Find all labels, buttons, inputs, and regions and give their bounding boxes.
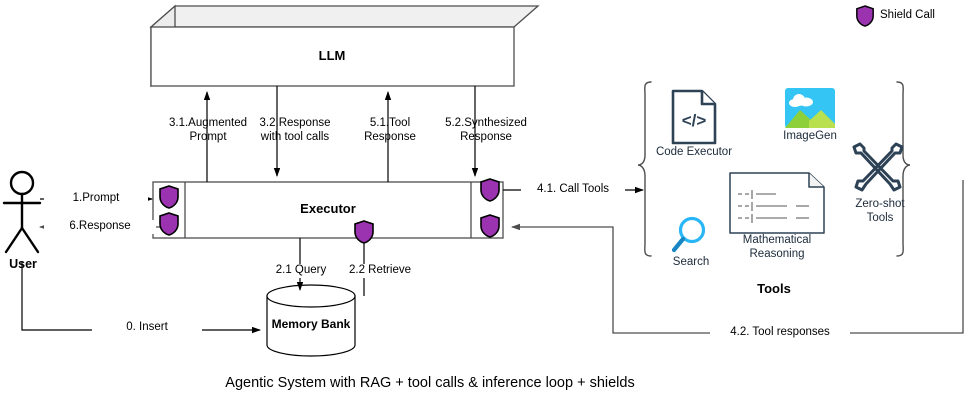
formula-document-icon (729, 172, 825, 234)
code-document-icon: </> (670, 88, 718, 146)
shield-icon (479, 178, 501, 202)
edge-label-4-1-call-tools: 4.1. Call Tools (521, 183, 625, 197)
tool-label-mathematical-reasoning: Mathematical Reasoning (722, 234, 832, 261)
legend-label-shield-call: Shield Call (880, 9, 970, 23)
tool-label-zero-shot-tools: Zero-shot Tools (845, 198, 915, 225)
shield-icon (158, 185, 180, 209)
edge-label-5-2: 5.2.Synthesized Response (424, 117, 548, 144)
tool-label-code-executor: Code Executor (646, 146, 742, 160)
user-actor (4, 172, 40, 252)
tools-panel-label: Tools (724, 282, 824, 296)
crossed-wrenches-icon (850, 140, 906, 198)
tool-label-imagegen: ImageGen (768, 130, 852, 144)
executor-label: Executor (278, 202, 378, 216)
edge-label-1-prompt: 1.Prompt (44, 192, 148, 206)
edge-label-6-response: 6.Response (44, 220, 156, 234)
diagram-caption: Agentic System with RAG + tool calls & i… (0, 377, 860, 391)
tool-label-search: Search (655, 256, 727, 270)
llm-label: LLM (282, 49, 382, 63)
edge-label-2-1-query: 2.1 Query (264, 264, 338, 278)
edge-label-0-insert: 0. Insert (92, 321, 202, 335)
shield-icon (158, 212, 180, 236)
edge-label-4-2-tool-responses: 4.2. Tool responses (710, 326, 850, 340)
shield-icon (353, 220, 375, 244)
svg-text:</>: </> (682, 111, 707, 130)
image-photo-icon (785, 88, 835, 128)
magnifier-icon (669, 215, 711, 257)
shield-icon (479, 214, 501, 238)
shield-icon (855, 5, 875, 27)
user-label: User (0, 258, 46, 272)
memory-bank-label: Memory Bank (261, 318, 361, 332)
edge-0-insert-line (22, 262, 260, 330)
llm-node (151, 6, 538, 86)
diagram-canvas: LLM Executor Memory Bank User Tools 3.1.… (0, 0, 970, 411)
edge-label-2-2-retrieve: 2.2 Retrieve (336, 264, 424, 278)
